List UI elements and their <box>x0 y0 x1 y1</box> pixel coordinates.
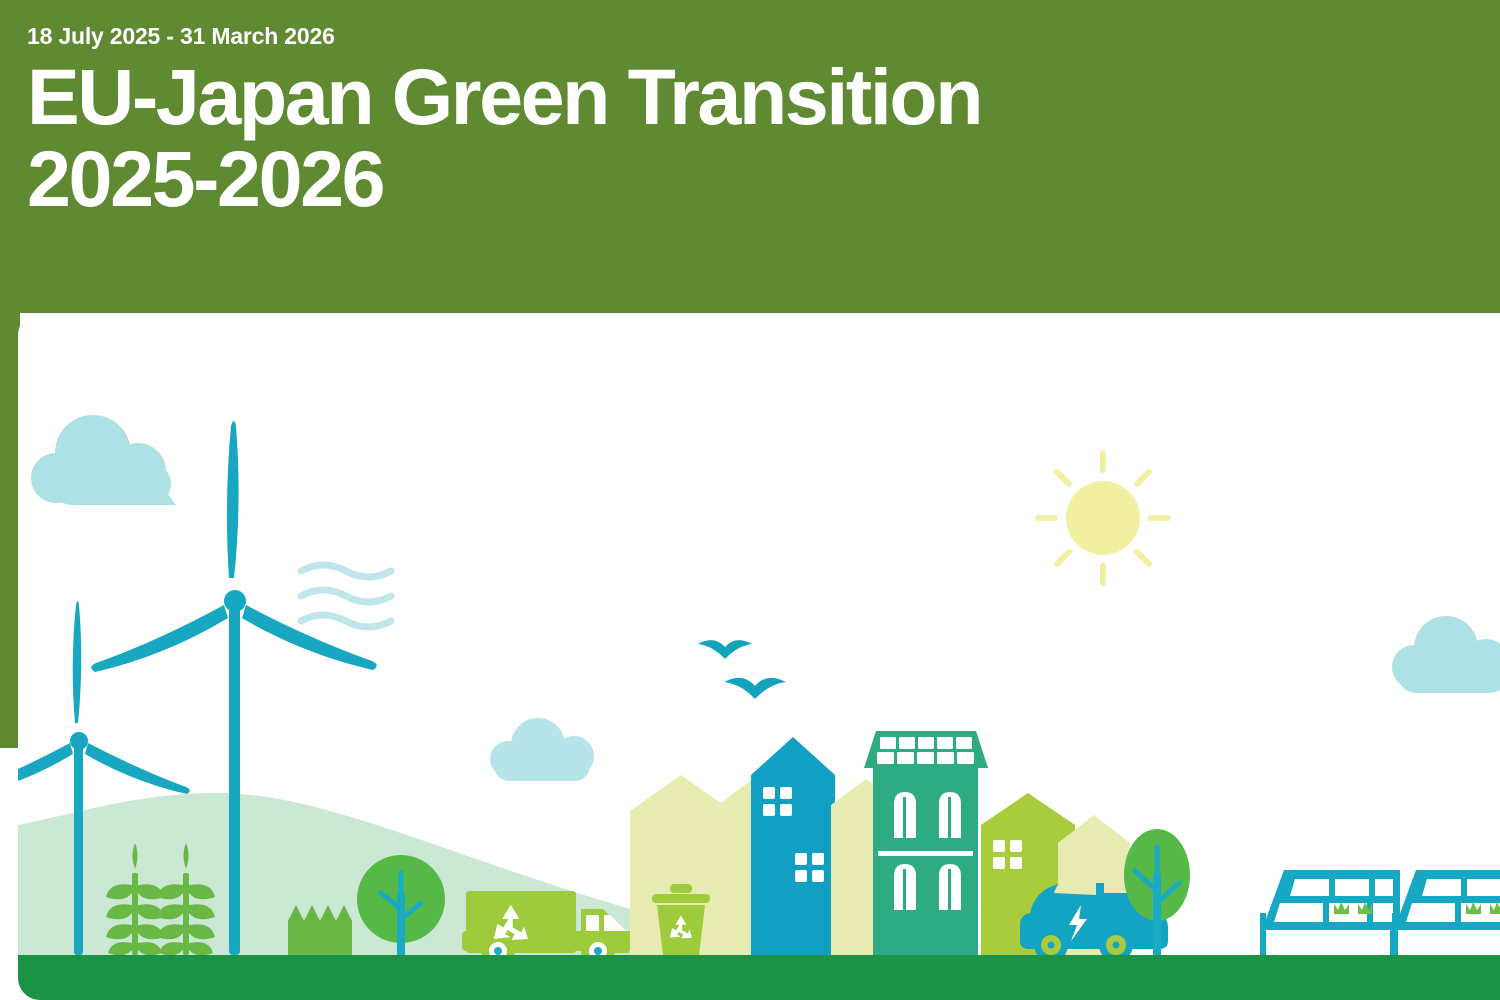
cloud-right-icon <box>1392 616 1500 693</box>
apartment-divider-band <box>878 851 973 856</box>
page-root: 18 July 2025 - 31 March 2026 EU-Japan Gr… <box>0 0 1500 1000</box>
green-transition-landscape-illustration <box>18 313 1500 1000</box>
wind-lines-icon <box>301 565 391 627</box>
house-cyan-icon <box>751 737 835 955</box>
solar-panel-right-icon <box>1392 870 1500 957</box>
cloud-large-left-icon <box>31 415 176 505</box>
illustration-card <box>18 313 1500 1000</box>
ground-strip <box>18 955 1500 1000</box>
birds-icon <box>698 640 786 698</box>
event-dates: 18 July 2025 - 31 March 2026 <box>27 20 1327 52</box>
cloud-small-mid-icon <box>490 718 594 781</box>
sun-icon <box>1038 453 1168 583</box>
solar-panel-left-icon <box>1260 870 1400 957</box>
apartment-green-icon <box>864 731 988 955</box>
banner-background-left-strip <box>0 300 20 748</box>
page-title: EU-Japan Green Transition 2025-2026 <box>27 56 1327 220</box>
banner-header: 18 July 2025 - 31 March 2026 EU-Japan Gr… <box>27 20 1327 220</box>
